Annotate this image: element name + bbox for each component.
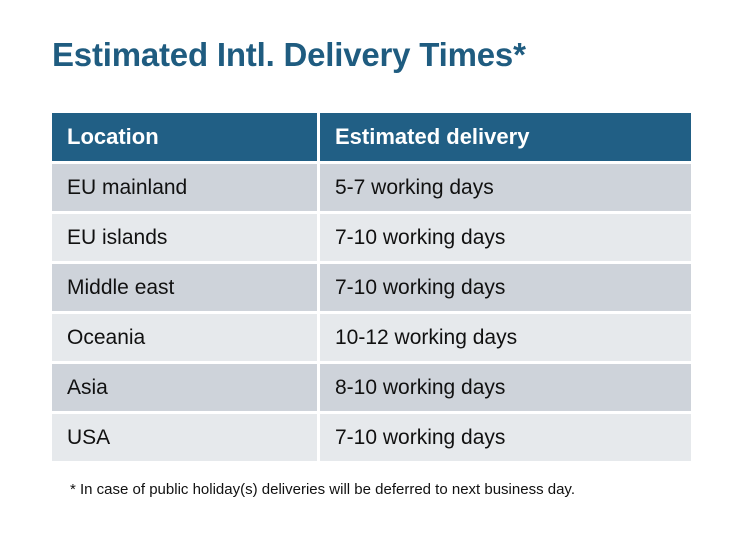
cell-location: Asia [52,364,317,411]
cell-estimated-delivery: 7-10 working days [320,414,691,461]
table-header-row: Location Estimated delivery [52,113,691,161]
cell-estimated-delivery: 10-12 working days [320,314,691,361]
column-header-location: Location [52,113,317,161]
cell-estimated-delivery: 8-10 working days [320,364,691,411]
table-row: Middle east 7-10 working days [52,264,691,311]
cell-location: EU mainland [52,164,317,211]
table-row: USA 7-10 working days [52,414,691,461]
column-header-estimated-delivery: Estimated delivery [320,113,691,161]
cell-estimated-delivery: 7-10 working days [320,264,691,311]
cell-estimated-delivery: 5-7 working days [320,164,691,211]
cell-location: EU islands [52,214,317,261]
cell-estimated-delivery: 7-10 working days [320,214,691,261]
page-title: Estimated Intl. Delivery Times* [52,36,526,74]
cell-location: Oceania [52,314,317,361]
table-row: Asia 8-10 working days [52,364,691,411]
delivery-times-table: Location Estimated delivery EU mainland … [52,113,691,461]
table-row: EU mainland 5-7 working days [52,164,691,211]
footnote-text: * In case of public holiday(s) deliverie… [70,481,575,498]
cell-location: USA [52,414,317,461]
cell-location: Middle east [52,264,317,311]
table-row: Oceania 10-12 working days [52,314,691,361]
table-row: EU islands 7-10 working days [52,214,691,261]
delivery-times-page: Estimated Intl. Delivery Times* Location… [0,0,745,536]
